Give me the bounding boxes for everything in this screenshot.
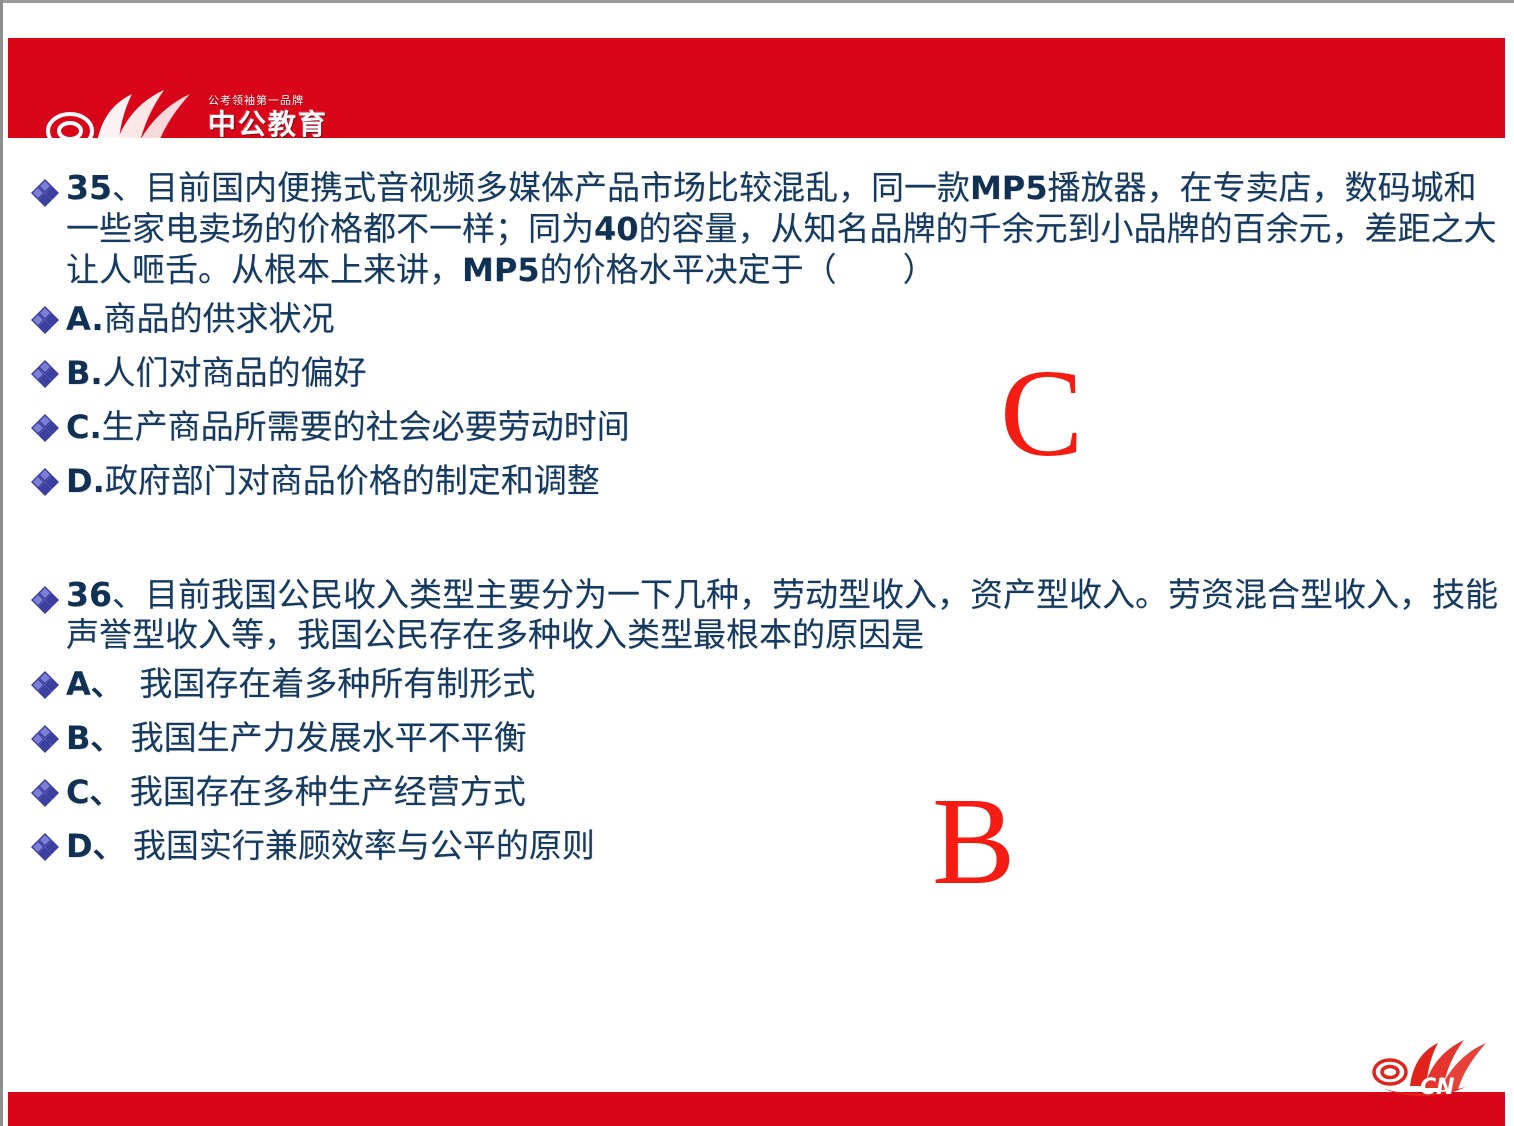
- svg-text:CN: CN: [1420, 1075, 1455, 1100]
- option-letter-35-b: B.: [66, 354, 103, 392]
- question-bullet-cell: [8, 168, 66, 178]
- question-stem-35: 35、目前国内便携式音视频多媒体产品市场比较混乱，同一款MP5播放器，在专卖店，…: [66, 168, 1505, 291]
- option-bullet-cell: [8, 822, 66, 832]
- option-bullet-cell: [8, 457, 66, 467]
- option-row-35-a[interactable]: A.商品的供求状况: [8, 295, 1505, 345]
- option-label-36-a: 我国存在着多种所有制形式: [123, 667, 536, 703]
- option-letter-36-a: A、: [66, 665, 123, 703]
- question-block-36: 36、目前我国公民收入类型主要分为一下几种，劳动型收入，资产型收入。劳资混合型收…: [8, 575, 1505, 872]
- clover-diamond-bullet-icon: [30, 670, 60, 700]
- clover-diamond-bullet-icon: [30, 413, 60, 443]
- option-text-35-c: C.生产商品所需要的社会必要劳动时间: [66, 403, 1505, 453]
- question-number-36: 36: [66, 575, 112, 614]
- option-label-36-d: 我国实行兼顾效率与公平的原则: [125, 829, 595, 865]
- svg-text:CN: CN: [112, 133, 159, 166]
- option-letter-36-b: B、: [66, 719, 122, 757]
- option-text-36-d: D、 我国实行兼顾效率与公平的原则: [66, 822, 1505, 872]
- question-stem-capacity: 40: [594, 210, 639, 248]
- question-block-35: 35、目前国内便携式音视频多媒体产品市场比较混乱，同一款MP5播放器，在专卖店，…: [8, 168, 1505, 507]
- option-label-35-d: 政府部门对商品价格的制定和调整: [105, 464, 600, 500]
- option-letter-35-d: D.: [66, 462, 105, 500]
- question-stem-36-body: 、目前我国公民收入类型主要分为一下几种，劳动型收入，资产型收入。劳资混合型收入，…: [66, 578, 1498, 654]
- question-number-35: 35: [66, 168, 112, 207]
- option-text-36-b: B、 我国生产力发展水平不平衡: [66, 714, 1505, 764]
- slide-canvas: CN 公考领袖第一品牌 中公教育: [0, 0, 1514, 1126]
- option-letter-35-a: A.: [66, 300, 104, 338]
- option-row-35-b[interactable]: B.人们对商品的偏好: [8, 349, 1505, 399]
- option-letter-36-c: C、: [66, 773, 122, 811]
- option-row-36-d[interactable]: D、 我国实行兼顾效率与公平的原则: [8, 822, 1505, 872]
- option-bullet-cell: [8, 714, 66, 724]
- option-bullet-cell: [8, 768, 66, 778]
- option-row-35-c[interactable]: C.生产商品所需要的社会必要劳动时间: [8, 403, 1505, 453]
- brand-tagline: 公考领袖第一品牌: [208, 94, 338, 108]
- option-bullet-cell: [8, 349, 66, 359]
- option-letter-35-c: C.: [66, 408, 102, 446]
- clover-diamond-bullet-icon: [30, 724, 60, 754]
- clover-diamond-bullet-icon: [30, 467, 60, 497]
- option-text-35-b: B.人们对商品的偏好: [66, 349, 1505, 399]
- slide-top-border: [0, 0, 1514, 3]
- clover-diamond-bullet-icon: [30, 832, 60, 862]
- option-bullet-cell: [8, 295, 66, 305]
- option-row-36-b[interactable]: B、 我国生产力发展水平不平衡: [8, 714, 1505, 764]
- clover-diamond-bullet-icon: [30, 585, 60, 615]
- option-row-36-c[interactable]: C、 我国存在多种生产经营方式: [8, 768, 1505, 818]
- brand-name: 中公教育: [208, 108, 338, 142]
- option-row-36-a[interactable]: A、 我国存在着多种所有制形式: [8, 660, 1505, 710]
- footer-offcn-wing-icon: CN: [1368, 1038, 1498, 1100]
- header-band: CN 公考领袖第一品牌 中公教育: [8, 38, 1505, 138]
- slide-left-border: [0, 0, 3, 1126]
- question-stem-mp5-1: MP5: [970, 169, 1048, 207]
- answer-marker-36: B: [932, 780, 1015, 905]
- clover-diamond-bullet-icon: [30, 305, 60, 335]
- question-gap: [8, 507, 1505, 575]
- option-text-35-a: A.商品的供求状况: [66, 295, 1505, 345]
- question-stem-part-4: 的价格水平决定于（ ）: [540, 253, 936, 289]
- option-text-36-c: C、 我国存在多种生产经营方式: [66, 768, 1505, 818]
- brand-logo: CN 公考领袖第一品牌 中公教育: [38, 86, 328, 166]
- question-stem-row-36: 36、目前我国公民收入类型主要分为一下几种，劳动型收入，资产型收入。劳资混合型收…: [8, 575, 1505, 656]
- brand-logo-text: 公考领袖第一品牌 中公教育: [208, 94, 338, 142]
- option-text-35-d: D.政府部门对商品价格的制定和调整: [66, 457, 1505, 507]
- clover-diamond-bullet-icon: [30, 359, 60, 389]
- answer-marker-35: C: [1000, 352, 1083, 477]
- question-bullet-cell: [8, 575, 66, 585]
- option-label-36-c: 我国存在多种生产经营方式: [122, 775, 526, 811]
- option-label-36-b: 我国生产力发展水平不平衡: [122, 721, 526, 757]
- option-text-36-a: A、 我国存在着多种所有制形式: [66, 660, 1505, 710]
- option-letter-36-d: D、: [66, 827, 125, 865]
- option-label-35-a: 商品的供求状况: [104, 302, 335, 338]
- option-label-35-b: 人们对商品的偏好: [103, 356, 367, 392]
- offcn-wing-icon: CN: [38, 86, 208, 166]
- question-stem-36: 36、目前我国公民收入类型主要分为一下几种，劳动型收入，资产型收入。劳资混合型收…: [66, 575, 1505, 656]
- question-stem-part-1: 、目前国内便携式音视频多媒体产品市场比较混乱，同一款: [112, 171, 970, 207]
- option-bullet-cell: [8, 403, 66, 413]
- slide-content: 35、目前国内便携式音视频多媒体产品市场比较混乱，同一款MP5播放器，在专卖店，…: [8, 168, 1505, 1048]
- option-bullet-cell: [8, 660, 66, 670]
- clover-diamond-bullet-icon: [30, 778, 60, 808]
- question-stem-row-35: 35、目前国内便携式音视频多媒体产品市场比较混乱，同一款MP5播放器，在专卖店，…: [8, 168, 1505, 291]
- clover-diamond-bullet-icon: [30, 178, 60, 208]
- question-stem-mp5-2: MP5: [462, 251, 540, 289]
- footer-band: [8, 1092, 1505, 1126]
- option-row-35-d[interactable]: D.政府部门对商品价格的制定和调整: [8, 457, 1505, 507]
- option-label-35-c: 生产商品所需要的社会必要劳动时间: [102, 410, 630, 446]
